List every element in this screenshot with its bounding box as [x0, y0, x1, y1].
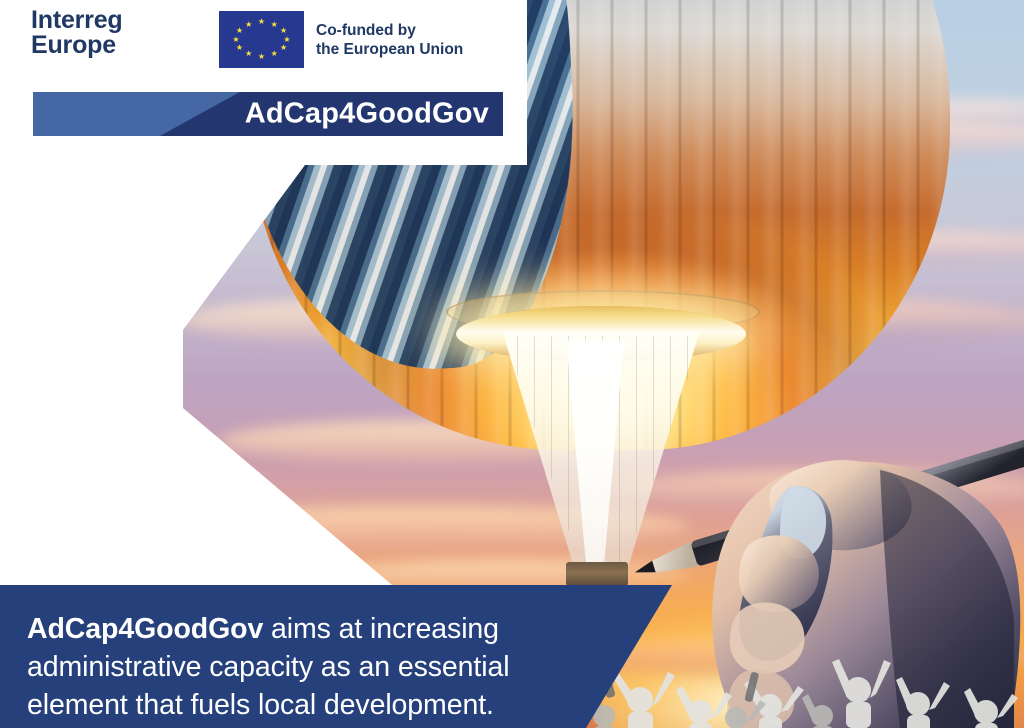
eu-funding-line2: the European Union: [316, 40, 463, 59]
interreg-logo-line2: Europe: [31, 33, 122, 58]
project-title-banner: AdCap4GoodGov: [33, 92, 503, 136]
crowd-person: [832, 659, 891, 728]
crowd-person: [802, 694, 833, 728]
eu-star-icon: ★: [245, 21, 252, 29]
interreg-logo-line1: Interreg: [31, 6, 122, 34]
interreg-europe-logo: Interreg Europe: [31, 8, 122, 58]
eu-star-icon: ★: [245, 50, 252, 58]
eu-funding-line1: Co-funded by: [316, 21, 463, 40]
eu-star-icon: ★: [280, 44, 287, 52]
poster-graphic: Interreg Europe ★★★★★★★★★★★★ Co-funded b…: [0, 0, 1024, 728]
crowd-person: [612, 672, 675, 728]
header-card: Interreg Europe ★★★★★★★★★★★★ Co-funded b…: [0, 0, 527, 165]
statement-text: AdCap4GoodGov aims at increasing adminis…: [27, 610, 572, 724]
crowd-person: [896, 677, 950, 728]
eu-star-icon: ★: [258, 18, 265, 26]
eu-star-icon: ★: [271, 50, 278, 58]
eu-star-icon: ★: [232, 36, 239, 44]
eu-star-icon: ★: [236, 44, 243, 52]
crowd-person: [964, 688, 1018, 728]
project-title: AdCap4GoodGov: [245, 98, 489, 131]
eu-star-icon: ★: [258, 53, 265, 61]
crowd-person: [676, 686, 732, 728]
statement-highlight: AdCap4GoodGov: [27, 613, 263, 645]
eu-flag-icon: ★★★★★★★★★★★★: [219, 11, 304, 68]
eu-star-icon: ★: [236, 27, 243, 35]
eu-star-icon: ★: [271, 21, 278, 29]
eu-funding-text: Co-funded by the European Union: [316, 21, 463, 59]
eu-emblem: ★★★★★★★★★★★★ Co-funded by the European U…: [219, 11, 463, 68]
